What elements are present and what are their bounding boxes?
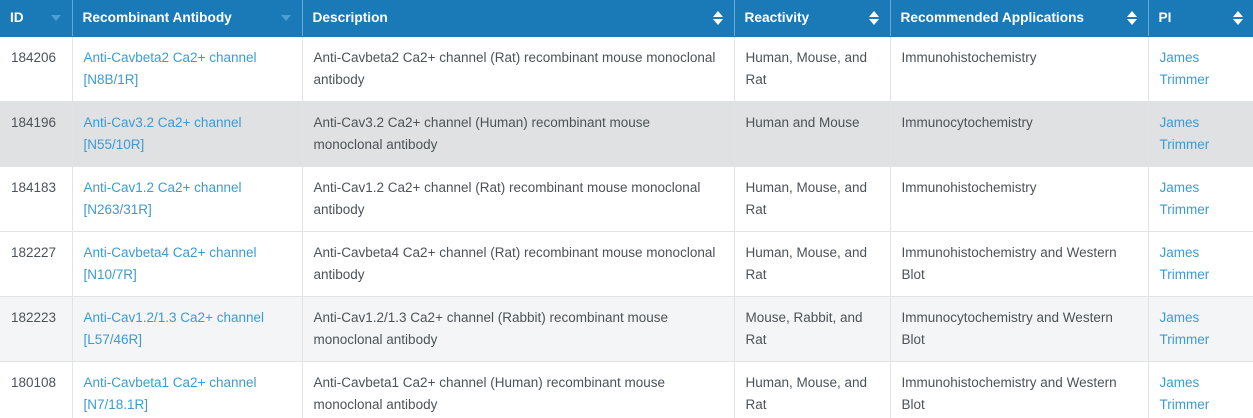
antibody-link[interactable]: Anti-Cav1.2 Ca2+ channel [N263/31R] bbox=[84, 180, 242, 217]
column-header-recommended-applications-label: Recommended Applications bbox=[901, 9, 1085, 26]
column-header-pi[interactable]: PI bbox=[1148, 0, 1253, 37]
antibody-link[interactable]: Anti-Cavbeta2 Ca2+ channel [N8B/1R] bbox=[84, 50, 257, 87]
cell-pi: James Trimmer bbox=[1148, 102, 1253, 167]
cell-reactivity: Human, Mouse, and Rat bbox=[734, 167, 890, 232]
cell-description: Anti-Cavbeta4 Ca2+ channel (Rat) recombi… bbox=[302, 232, 734, 297]
cell-recombinant-antibody: Anti-Cav3.2 Ca2+ channel [N55/10R] bbox=[72, 102, 302, 167]
cell-recombinant-antibody: Anti-Cav1.2 Ca2+ channel [N263/31R] bbox=[72, 167, 302, 232]
table-row: 180108 Anti-Cavbeta1 Ca2+ channel [N7/18… bbox=[0, 362, 1253, 418]
antibody-link[interactable]: Anti-Cavbeta4 Ca2+ channel [N10/7R] bbox=[84, 245, 257, 282]
table-row: 184196 Anti-Cav3.2 Ca2+ channel [N55/10R… bbox=[0, 102, 1253, 167]
antibody-link[interactable]: Anti-Cav1.2/1.3 Ca2+ channel [L57/46R] bbox=[84, 310, 265, 347]
cell-pi: James Trimmer bbox=[1148, 362, 1253, 418]
cell-recommended-applications: Immunohistochemistry bbox=[890, 167, 1148, 232]
cell-reactivity: Human and Mouse bbox=[734, 102, 890, 167]
pi-link[interactable]: James Trimmer bbox=[1160, 115, 1210, 152]
pi-link[interactable]: James Trimmer bbox=[1160, 245, 1210, 282]
recombinant-antibody-table: ID Recombinant Antibody Description bbox=[0, 0, 1253, 418]
table-row: 182223 Anti-Cav1.2/1.3 Ca2+ channel [L57… bbox=[0, 297, 1253, 362]
cell-reactivity: Human, Mouse, and Rat bbox=[734, 37, 890, 102]
cell-recombinant-antibody: Anti-Cavbeta4 Ca2+ channel [N10/7R] bbox=[72, 232, 302, 297]
cell-id: 182227 bbox=[0, 232, 72, 297]
pi-link[interactable]: James Trimmer bbox=[1160, 50, 1210, 87]
column-header-id-label: ID bbox=[10, 9, 24, 26]
cell-id: 184183 bbox=[0, 167, 72, 232]
cell-recommended-applications: Immunohistochemistry and Western Blot bbox=[890, 232, 1148, 297]
cell-pi: James Trimmer bbox=[1148, 297, 1253, 362]
cell-reactivity: Human, Mouse, and Rat bbox=[734, 232, 890, 297]
cell-reactivity: Human, Mouse, and Rat bbox=[734, 362, 890, 418]
table-header: ID Recombinant Antibody Description bbox=[0, 0, 1253, 37]
table-body: 184206 Anti-Cavbeta2 Ca2+ channel [N8B/1… bbox=[0, 37, 1253, 418]
cell-pi: James Trimmer bbox=[1148, 167, 1253, 232]
column-header-recommended-applications[interactable]: Recommended Applications bbox=[890, 0, 1148, 37]
cell-pi: James Trimmer bbox=[1148, 232, 1253, 297]
cell-recombinant-antibody: Anti-Cavbeta1 Ca2+ channel [N7/18.1R] bbox=[72, 362, 302, 418]
column-header-recombinant-antibody[interactable]: Recombinant Antibody bbox=[72, 0, 302, 37]
cell-recommended-applications: Immunohistochemistry bbox=[890, 37, 1148, 102]
pi-link[interactable]: James Trimmer bbox=[1160, 375, 1210, 412]
cell-recombinant-antibody: Anti-Cav1.2/1.3 Ca2+ channel [L57/46R] bbox=[72, 297, 302, 362]
cell-id: 184206 bbox=[0, 37, 72, 102]
results-table-container: ID Recombinant Antibody Description bbox=[0, 0, 1253, 418]
cell-description: Anti-Cav3.2 Ca2+ channel (Human) recombi… bbox=[302, 102, 734, 167]
sort-both-icon[interactable] bbox=[1127, 11, 1138, 25]
sort-desc-icon[interactable] bbox=[281, 11, 292, 25]
cell-description: Anti-Cavbeta1 Ca2+ channel (Human) recom… bbox=[302, 362, 734, 418]
antibody-link[interactable]: Anti-Cav3.2 Ca2+ channel [N55/10R] bbox=[84, 115, 242, 152]
column-header-id[interactable]: ID bbox=[0, 0, 72, 37]
column-header-description[interactable]: Description bbox=[302, 0, 734, 37]
cell-id: 184196 bbox=[0, 102, 72, 167]
cell-id: 182223 bbox=[0, 297, 72, 362]
table-row: 182227 Anti-Cavbeta4 Ca2+ channel [N10/7… bbox=[0, 232, 1253, 297]
cell-recommended-applications: Immunocytochemistry bbox=[890, 102, 1148, 167]
column-header-recombinant-antibody-label: Recombinant Antibody bbox=[83, 9, 232, 26]
pi-link[interactable]: James Trimmer bbox=[1160, 180, 1210, 217]
antibody-link[interactable]: Anti-Cavbeta1 Ca2+ channel [N7/18.1R] bbox=[84, 375, 257, 412]
cell-reactivity: Mouse, Rabbit, and Rat bbox=[734, 297, 890, 362]
cell-id: 180108 bbox=[0, 362, 72, 418]
pi-link[interactable]: James Trimmer bbox=[1160, 310, 1210, 347]
column-header-reactivity[interactable]: Reactivity bbox=[734, 0, 890, 37]
column-header-reactivity-label: Reactivity bbox=[745, 9, 810, 26]
sort-both-icon[interactable] bbox=[713, 11, 724, 25]
sort-desc-icon[interactable] bbox=[51, 11, 62, 25]
cell-description: Anti-Cavbeta2 Ca2+ channel (Rat) recombi… bbox=[302, 37, 734, 102]
cell-recombinant-antibody: Anti-Cavbeta2 Ca2+ channel [N8B/1R] bbox=[72, 37, 302, 102]
column-header-description-label: Description bbox=[313, 9, 388, 26]
column-header-pi-label: PI bbox=[1159, 9, 1172, 26]
cell-recommended-applications: Immunocytochemistry and Western Blot bbox=[890, 297, 1148, 362]
sort-both-icon[interactable] bbox=[1232, 11, 1243, 25]
table-row: 184206 Anti-Cavbeta2 Ca2+ channel [N8B/1… bbox=[0, 37, 1253, 102]
table-row: 184183 Anti-Cav1.2 Ca2+ channel [N263/31… bbox=[0, 167, 1253, 232]
cell-pi: James Trimmer bbox=[1148, 37, 1253, 102]
cell-description: Anti-Cav1.2 Ca2+ channel (Rat) recombina… bbox=[302, 167, 734, 232]
sort-both-icon[interactable] bbox=[869, 11, 880, 25]
cell-description: Anti-Cav1.2/1.3 Ca2+ channel (Rabbit) re… bbox=[302, 297, 734, 362]
table-header-row: ID Recombinant Antibody Description bbox=[0, 0, 1253, 37]
cell-recommended-applications: Immunohistochemistry and Western Blot bbox=[890, 362, 1148, 418]
